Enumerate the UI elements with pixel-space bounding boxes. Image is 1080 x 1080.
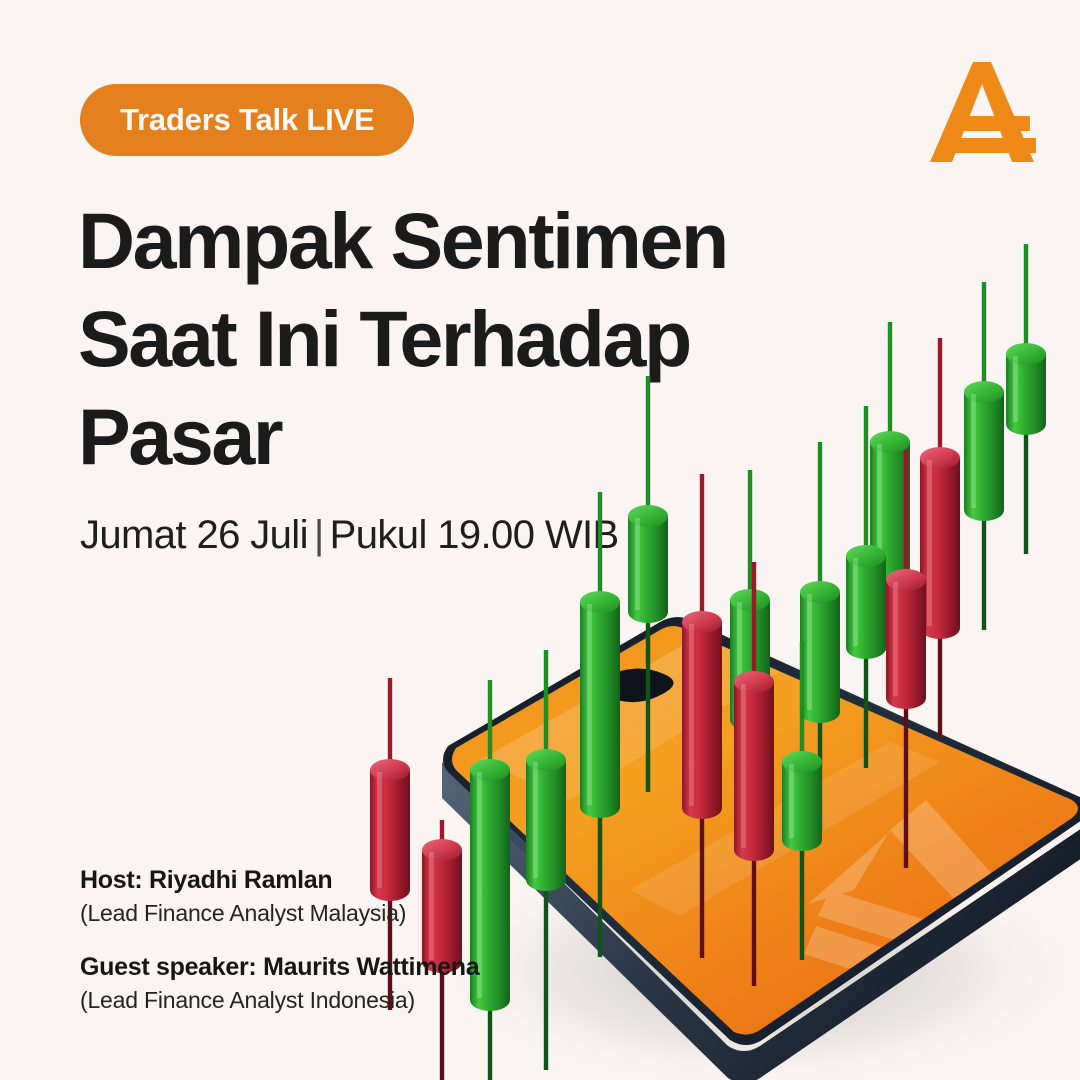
candle-upper-wick <box>598 492 602 608</box>
candle-highlight <box>893 582 898 696</box>
candle-cap <box>964 381 1004 403</box>
candle-lower-wick <box>646 612 650 792</box>
candle-highlight <box>927 460 932 626</box>
candle-highlight <box>853 558 858 646</box>
candle-highlight <box>635 518 640 610</box>
candle-lower-wick <box>544 880 548 1070</box>
candle-cap <box>526 749 566 771</box>
candle-lower-wick <box>488 1000 492 1080</box>
candle-upper-wick <box>800 642 804 768</box>
candle-lower-wick <box>752 850 756 986</box>
candle-lower-wick <box>598 807 602 957</box>
candle-upper-wick <box>646 376 650 522</box>
candle-body <box>846 556 886 659</box>
brand-a-logo-icon <box>926 58 1038 166</box>
candle-highlight <box>689 624 694 806</box>
candle-body <box>682 622 722 819</box>
poster-canvas: Traders Talk LIVE Dampak Sentimen Saat I… <box>0 0 1080 1080</box>
headline-line-1: Dampak Sentimen <box>78 192 838 290</box>
candle-body <box>800 592 840 723</box>
candle-highlight <box>971 394 976 508</box>
candle-upper-wick <box>818 442 822 598</box>
candle-upper-wick <box>752 562 756 688</box>
live-badge: Traders Talk LIVE <box>80 84 414 156</box>
candle-lower-wick <box>700 808 704 958</box>
candle-upper-wick <box>982 282 986 398</box>
speaker-name: Guest speaker: Maurits Wattimena <box>80 953 479 982</box>
candle-highlight <box>587 604 592 805</box>
candle-bullish <box>964 282 1004 630</box>
candle-cap <box>730 589 770 611</box>
candle-cap <box>682 611 722 633</box>
candle-upper-wick <box>864 406 868 562</box>
candle-lower-wick <box>938 628 942 738</box>
candle-highlight <box>807 594 812 710</box>
candle-lower-wick <box>982 510 986 630</box>
live-badge-label: Traders Talk LIVE <box>120 102 374 138</box>
candle-highlight <box>533 762 538 878</box>
candle-cap <box>1006 343 1046 365</box>
candle-cap <box>734 671 774 693</box>
candle-cap <box>580 591 620 613</box>
candle-cap <box>870 431 910 453</box>
candle-highlight <box>789 764 794 838</box>
candle-cap <box>846 545 886 567</box>
speaker-name: Host: Riyadhi Ramlan <box>80 866 479 895</box>
candle-lower-wick <box>904 698 908 868</box>
candle-cap <box>370 759 410 781</box>
candle-lower-wick <box>864 648 868 768</box>
candle-lower-wick <box>800 840 804 960</box>
candle-body <box>782 762 822 851</box>
candle-body <box>580 602 620 818</box>
candle-bullish <box>1006 244 1046 554</box>
candle-cap <box>422 839 462 861</box>
speaker-guest: Guest speaker: Maurits Wattimena (Lead F… <box>80 953 479 1014</box>
candle-body <box>526 760 566 891</box>
candle-cap <box>628 505 668 527</box>
event-date: Jumat 26 Juli <box>80 513 308 557</box>
candle-body <box>1006 354 1046 435</box>
candle-upper-wick <box>904 450 908 586</box>
candle-cap <box>470 759 510 781</box>
candle-lower-wick <box>1024 424 1028 554</box>
candle-highlight <box>1013 356 1018 422</box>
candle-upper-wick <box>700 474 704 628</box>
candle-highlight <box>741 684 746 848</box>
candle-cap <box>800 581 840 603</box>
speaker-role: (Lead Finance Analyst Indonesia) <box>80 987 479 1014</box>
candle-cap <box>886 569 926 591</box>
candle-upper-wick <box>888 322 892 448</box>
speaker-host: Host: Riyadhi Ramlan (Lead Finance Analy… <box>80 866 479 927</box>
candle-upper-wick <box>544 650 548 766</box>
candle-upper-wick <box>748 470 752 606</box>
speaker-list: Host: Riyadhi Ramlan (Lead Finance Analy… <box>80 866 479 1014</box>
candle-body <box>964 392 1004 521</box>
candle-body <box>734 682 774 861</box>
speaker-role: (Lead Finance Analyst Malaysia) <box>80 900 479 927</box>
candle-cap <box>782 751 822 773</box>
candle-body <box>628 516 668 623</box>
candle-upper-wick <box>938 338 942 464</box>
candle-upper-wick <box>1024 244 1028 360</box>
candle-body <box>886 580 926 709</box>
datetime-separator: | <box>314 513 324 557</box>
candle-cap <box>920 447 960 469</box>
